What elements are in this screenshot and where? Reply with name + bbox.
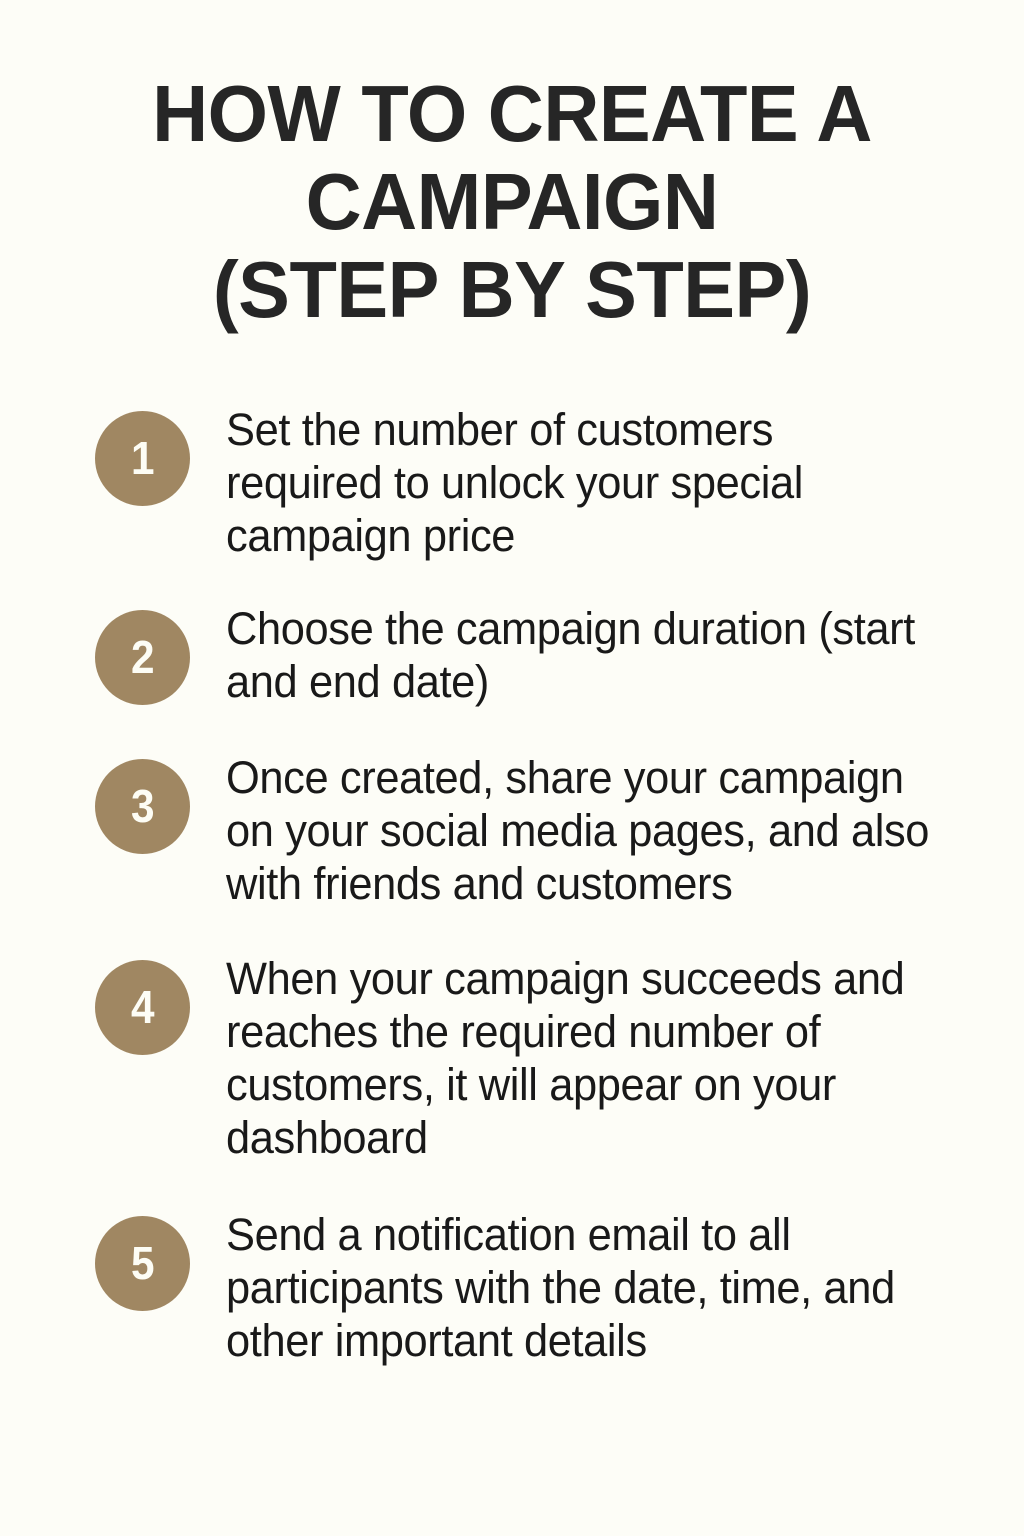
step-number-badge: 1 (95, 411, 190, 506)
list-item: 5 Send a notification email to all parti… (0, 1208, 1024, 1367)
step-description: Set the number of customers required to … (226, 403, 935, 562)
page-title: HOW TO CREATE A CAMPAIGN (STEP BY STEP) (0, 70, 1024, 334)
step-description: Once created, share your campaign on you… (226, 751, 935, 910)
step-number-label: 1 (131, 435, 155, 483)
step-number-label: 5 (131, 1240, 155, 1288)
list-item: 2 Choose the campaign duration (start an… (0, 602, 1024, 708)
list-item: 1 Set the number of customers required t… (0, 403, 1024, 562)
title-line-2: CAMPAIGN (15, 158, 1008, 246)
step-description: Choose the campaign duration (start and … (226, 602, 935, 708)
step-number-badge: 2 (95, 610, 190, 705)
step-number-badge: 5 (95, 1216, 190, 1311)
step-number-label: 2 (131, 634, 155, 682)
step-description: Send a notification email to all partici… (226, 1208, 935, 1367)
title-line-1: HOW TO CREATE A (15, 70, 1008, 158)
step-description: When your campaign succeeds and reaches … (226, 952, 935, 1164)
step-number-label: 4 (131, 984, 155, 1032)
list-item: 3 Once created, share your campaign on y… (0, 751, 1024, 910)
poster-canvas: HOW TO CREATE A CAMPAIGN (STEP BY STEP) … (0, 0, 1024, 1536)
step-number-badge: 3 (95, 759, 190, 854)
list-item: 4 When your campaign succeeds and reache… (0, 952, 1024, 1164)
steps-list: 1 Set the number of customers required t… (0, 403, 1024, 1367)
step-number-badge: 4 (95, 960, 190, 1055)
step-number-label: 3 (131, 783, 155, 831)
title-line-3: (STEP BY STEP) (15, 246, 1008, 334)
